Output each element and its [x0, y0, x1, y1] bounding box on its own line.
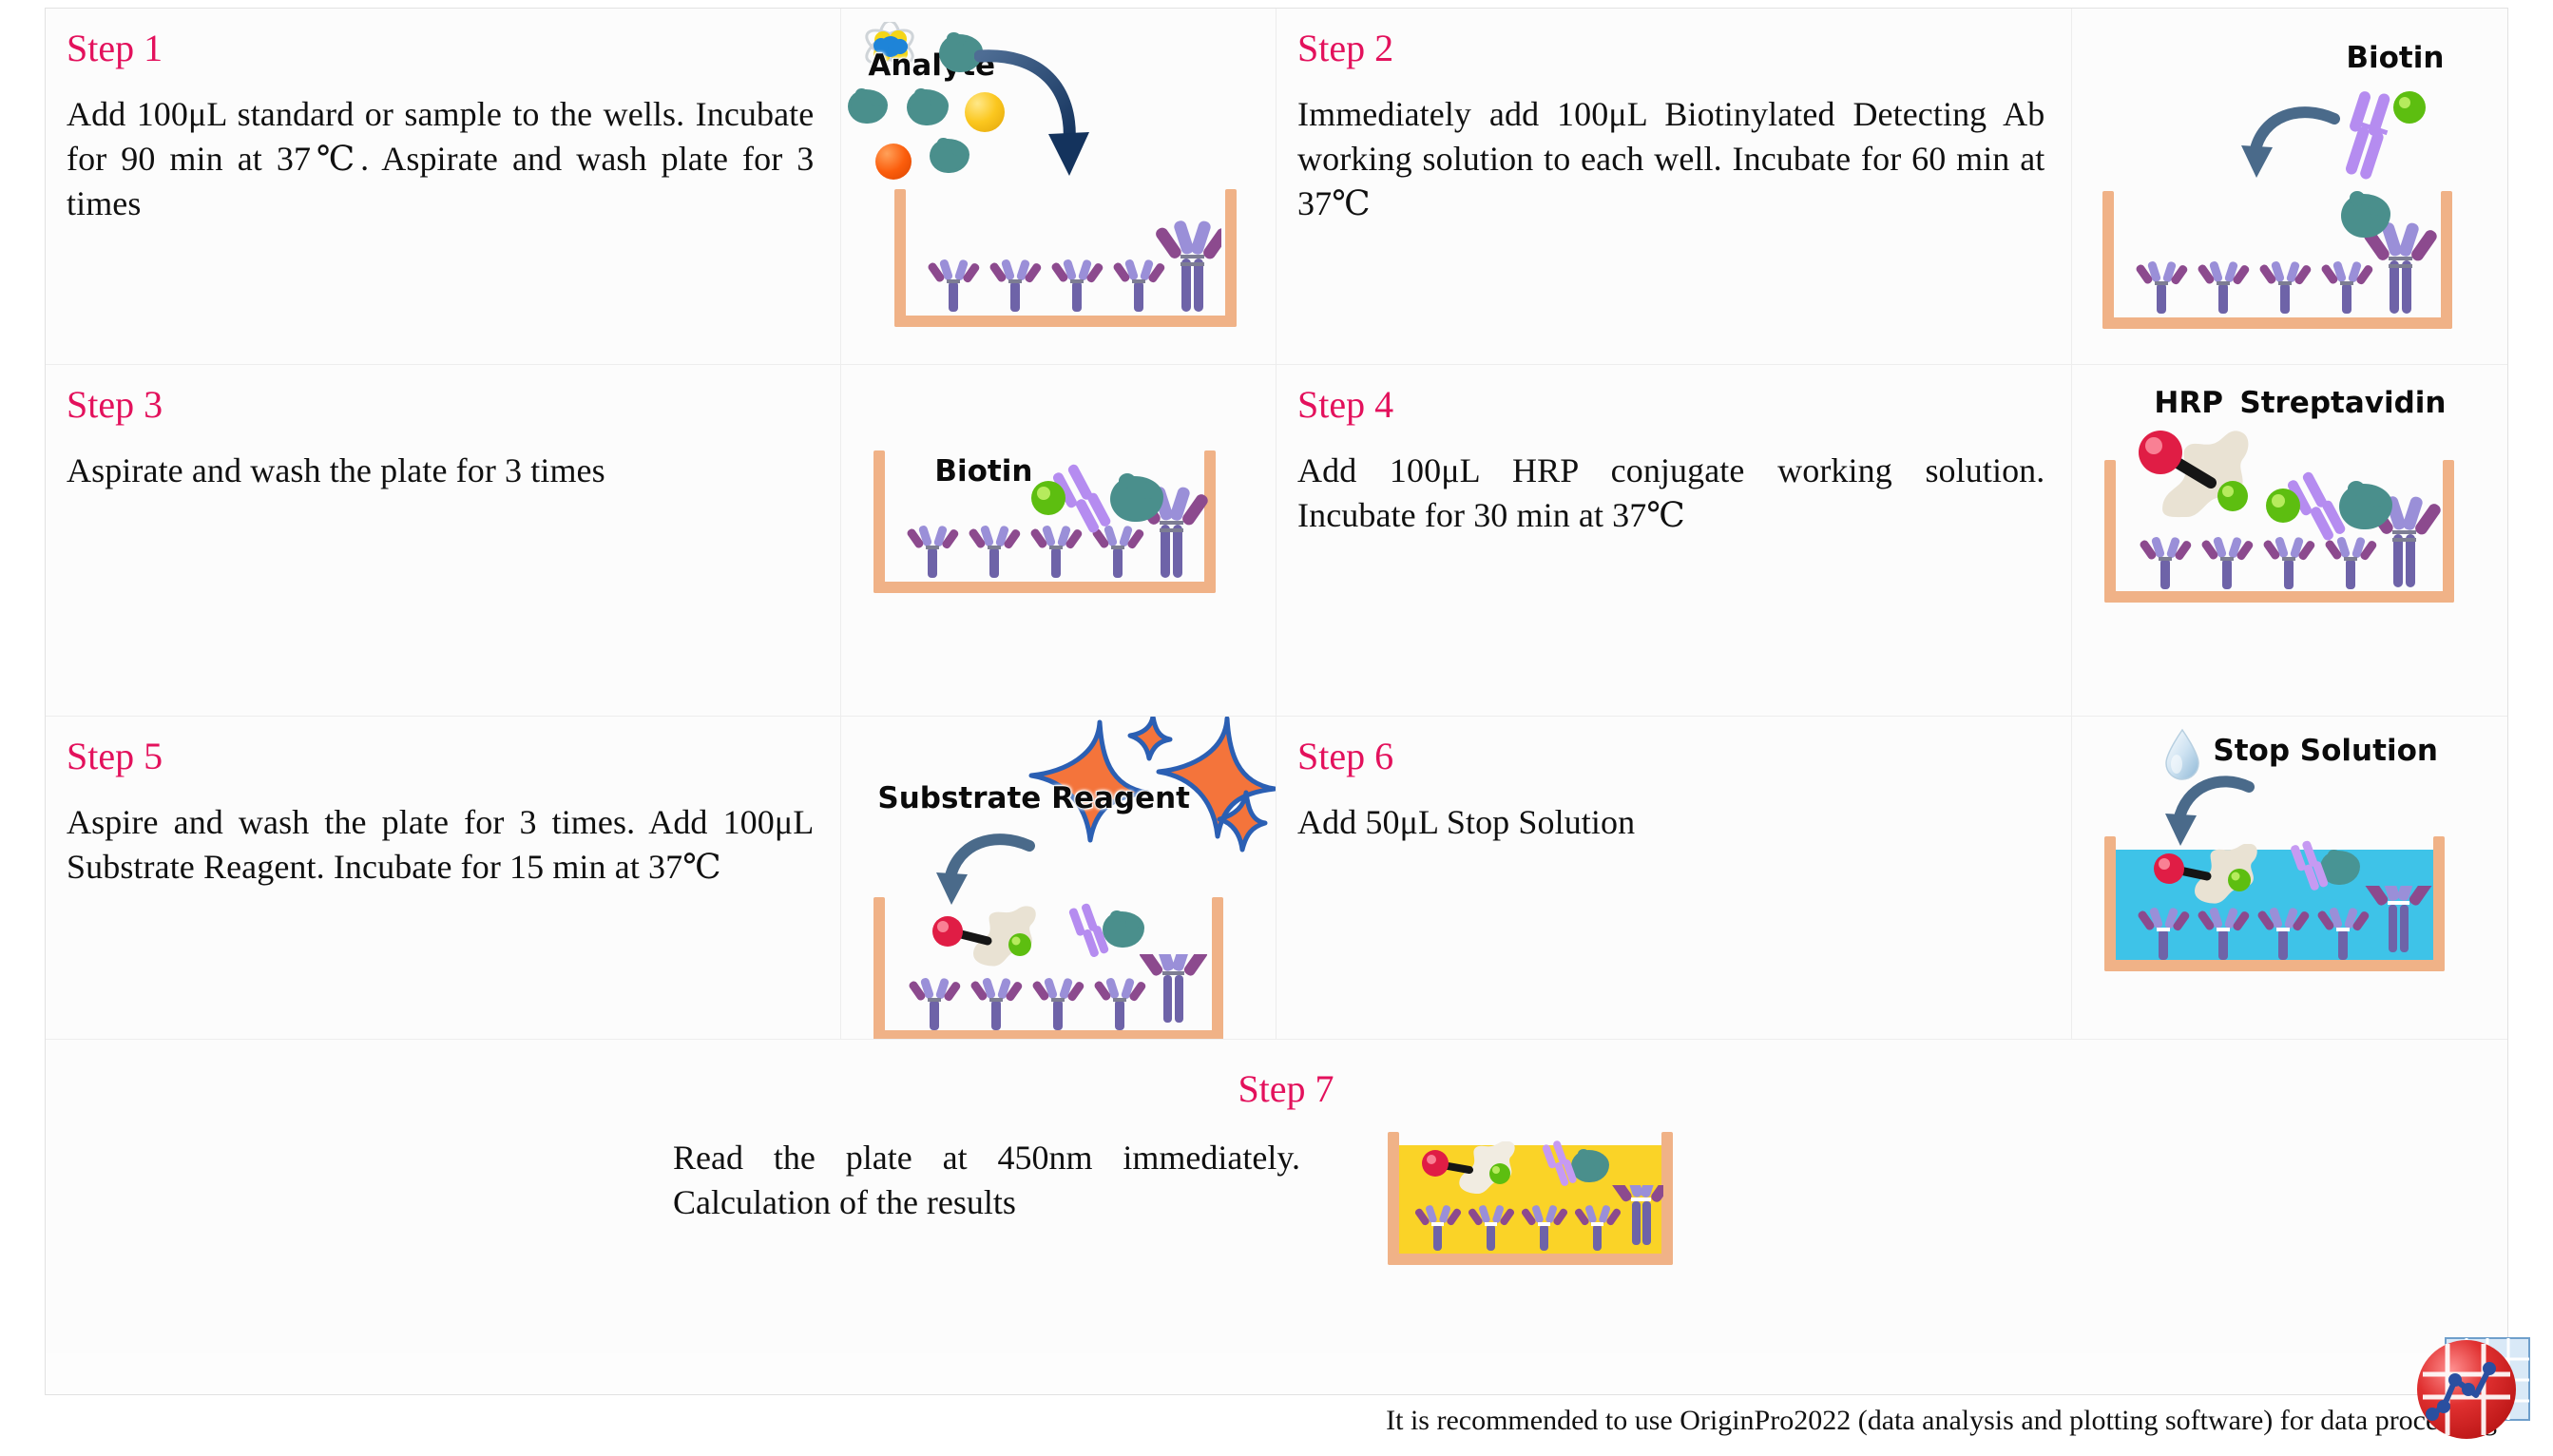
- hrp-streptavidin-conjugate: [2152, 844, 2304, 912]
- microplate-well: [2104, 836, 2445, 971]
- step-4-text-cell: Step 4 Add 100μL HRP conjugate working s…: [1276, 365, 2072, 717]
- protocol-table: Step 1 Add 100μL standard or sample to t…: [45, 8, 2508, 1395]
- step-3-text-cell: Step 3 Aspirate and wash the plate for 3…: [46, 365, 841, 717]
- step-5-illustration-cell: Substrate Reagent: [841, 717, 1276, 1040]
- microplate-well: [2104, 460, 2454, 603]
- step-5-text-cell: Step 5 Aspire and wash the plate for 3 t…: [46, 717, 841, 1040]
- footer: It is recommended to use OriginPro2022 (…: [45, 1395, 2508, 1456]
- stop-solution-label: Stop Solution: [2213, 734, 2438, 768]
- step-4-illustration-cell: HRP Streptavidin: [2072, 365, 2507, 717]
- well-wall-left: [2102, 191, 2114, 329]
- biotinylated-antibody: [1024, 456, 1157, 536]
- well-floor: [2104, 591, 2454, 603]
- streptavidin-label: Streptavidin: [2239, 386, 2446, 420]
- biotin-label: Biotin: [934, 454, 1032, 489]
- microplate-well: [894, 189, 1237, 327]
- well-wall-right: [2441, 191, 2452, 329]
- well-wall-left: [2104, 460, 2116, 603]
- table-row: Step 7 Read the plate at 450nm immediate…: [46, 1040, 2507, 1353]
- step-6-scene: Stop Solution: [2072, 717, 2507, 1039]
- well-floor: [873, 1030, 1223, 1040]
- step-1-title: Step 1: [67, 29, 814, 67]
- analyte-blob: [851, 92, 885, 121]
- microplate-well: [2102, 191, 2452, 329]
- step-5-scene: Substrate Reagent: [841, 717, 1276, 1039]
- step-6-title: Step 6: [1297, 738, 2044, 776]
- table-row: Step 5 Aspire and wash the plate for 3 t…: [46, 717, 2507, 1040]
- analyte-blob: [910, 92, 946, 123]
- step-7-illustration: [1388, 1132, 1673, 1284]
- step-1-illustration-cell: Analyte: [841, 9, 1276, 365]
- step-6-body: Add 50μL Stop Solution: [1297, 800, 2044, 845]
- step-3-body: Aspirate and wash the plate for 3 times: [67, 449, 814, 493]
- coated-antibodies: [2135, 211, 2439, 317]
- step-6-text-cell: Step 6 Add 50μL Stop Solution: [1276, 717, 2072, 1040]
- step-3-scene: Biotin: [841, 365, 1276, 716]
- step-2-text-cell: Step 2 Immediately add 100μL Biotinylate…: [1276, 9, 2072, 365]
- coated-antibodies: [927, 220, 1221, 316]
- well-wall-right: [1212, 897, 1223, 1040]
- microplate-well: Biotin: [873, 450, 1216, 593]
- step-4-scene: HRP Streptavidin: [2072, 365, 2507, 716]
- down-arrow-icon: [974, 47, 1098, 180]
- curved-arrow-icon: [2241, 105, 2346, 191]
- well-floor: [894, 316, 1237, 327]
- well-floor: [1388, 1254, 1673, 1265]
- hrp-streptavidin-conjugate: [929, 905, 1081, 977]
- table-row: Step 3 Aspirate and wash the plate for 3…: [46, 365, 2507, 717]
- step-5-title: Step 5: [67, 738, 814, 776]
- substrate-reagent-label: Substrate Reagent: [877, 781, 1190, 815]
- step-1-scene: Analyte: [841, 9, 1276, 364]
- step-5-body: Aspire and wash the plate for 3 times. A…: [67, 800, 814, 890]
- originpro-logo-icon: [2413, 1336, 2533, 1443]
- step-7-cell: Step 7 Read the plate at 450nm immediate…: [46, 1040, 2507, 1353]
- microplate-well: [1388, 1132, 1673, 1265]
- step-2-illustration-cell: Biotin: [2072, 9, 2507, 365]
- well-wall-right: [2443, 460, 2454, 603]
- step-7-title: Step 7: [46, 1066, 2507, 1111]
- well-wall-left: [2104, 836, 2116, 971]
- well-wall-left: [873, 897, 885, 1040]
- step-6-illustration-cell: Stop Solution: [2072, 717, 2507, 1040]
- well-floor: [2104, 960, 2445, 971]
- step-1-body: Add 100μL standard or sample to the well…: [67, 92, 814, 225]
- well-floor: [873, 582, 1216, 593]
- hrp-streptavidin-conjugate: [1420, 1141, 1553, 1202]
- hrp-label: HRP: [2154, 386, 2223, 420]
- step-3-illustration-cell: Biotin: [841, 365, 1276, 717]
- step-4-title: Step 4: [1297, 386, 2044, 424]
- well-floor: [2102, 317, 2452, 329]
- footer-note: It is recommended to use OriginPro2022 (…: [1386, 1405, 2497, 1437]
- well-wall-left: [1388, 1132, 1399, 1265]
- step-7-content: Read the plate at 450nm immediately. Cal…: [46, 1136, 2507, 1284]
- table-row: Step 1 Add 100μL standard or sample to t…: [46, 9, 2507, 365]
- well-wall-left: [873, 450, 885, 593]
- microplate-well: [873, 897, 1223, 1040]
- hrp-streptavidin-conjugate: [2131, 420, 2312, 553]
- step-4-body: Add 100μL HRP conjugate working solution…: [1297, 449, 2044, 538]
- step-1-text-cell: Step 1 Add 100μL standard or sample to t…: [46, 9, 841, 365]
- biotin-label: Biotin: [2346, 41, 2444, 75]
- orange-sphere: [875, 144, 912, 180]
- step-2-body: Immediately add 100μL Biotinylated Detec…: [1297, 92, 2044, 225]
- analyte-blob: [932, 142, 967, 170]
- well-wall-left: [894, 189, 906, 327]
- well-wall-right: [1225, 189, 1237, 327]
- step-2-scene: Biotin: [2072, 9, 2507, 364]
- step-7-body: Read the plate at 450nm immediately. Cal…: [673, 1136, 1300, 1225]
- step-3-title: Step 3: [67, 386, 814, 424]
- step-2-title: Step 2: [1297, 29, 2044, 67]
